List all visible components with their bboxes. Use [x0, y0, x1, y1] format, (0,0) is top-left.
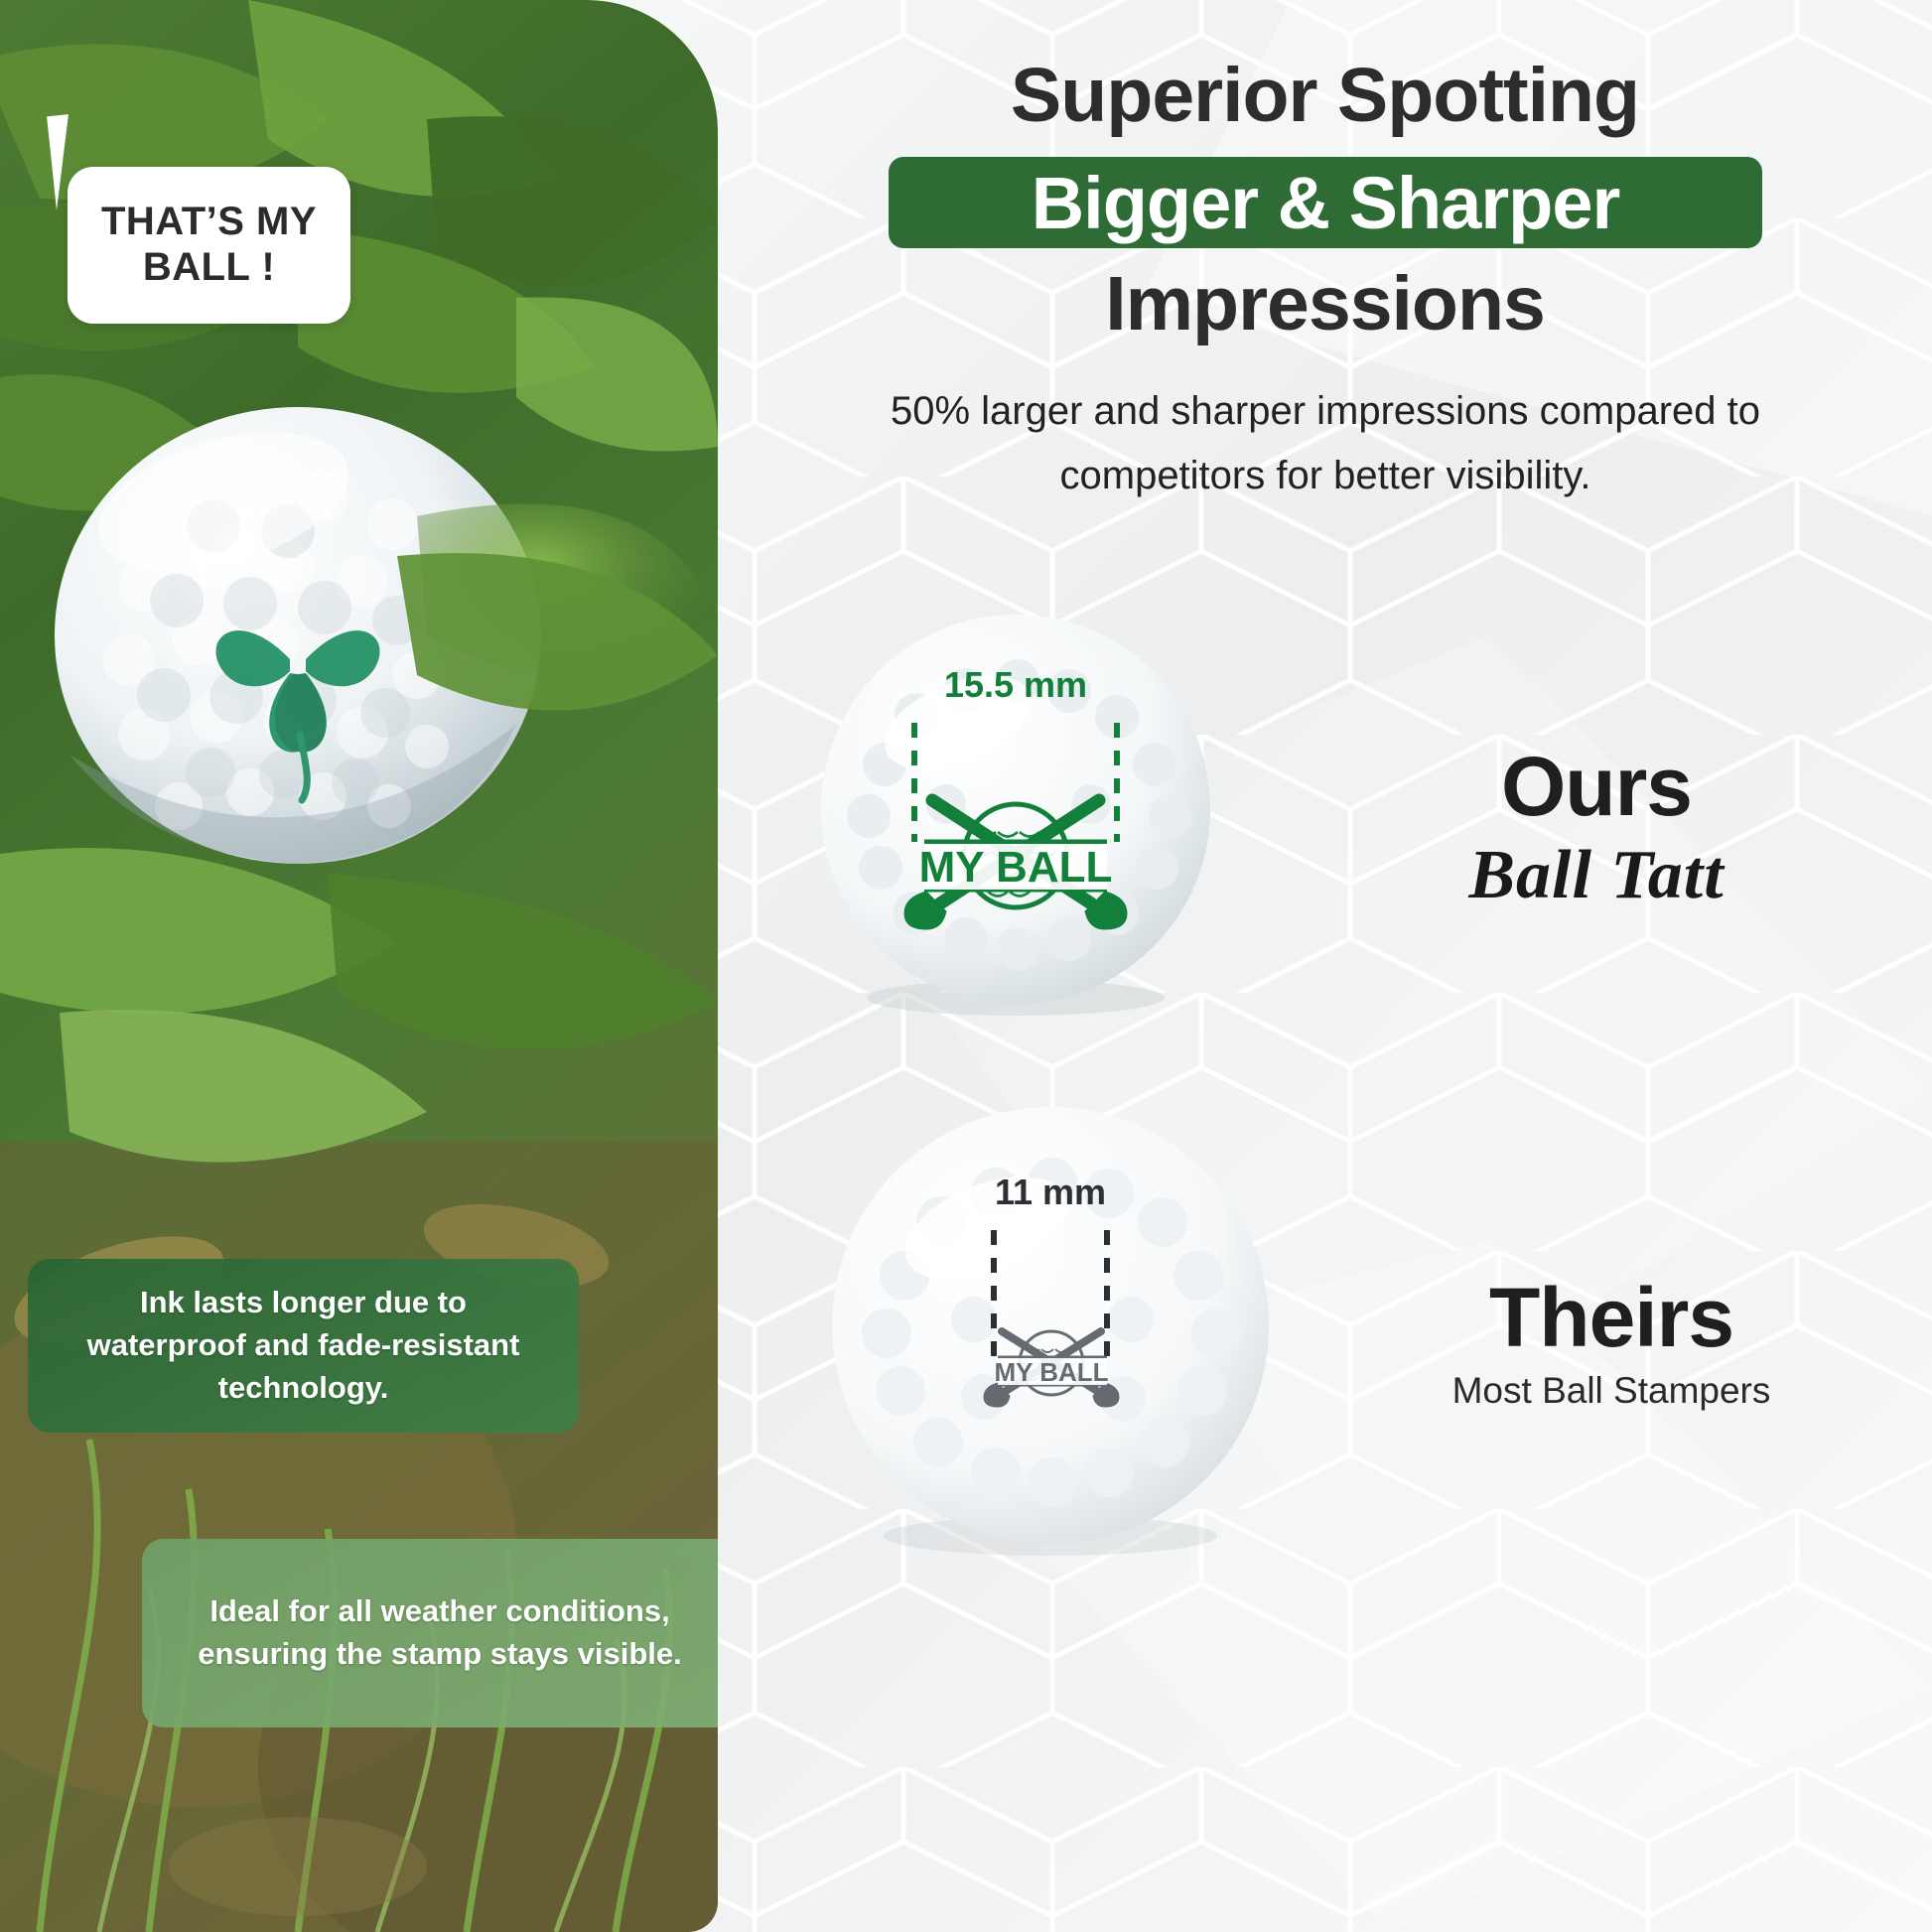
- golf-ball-ours-graphic: 15.5 mm: [807, 606, 1224, 1023]
- speech-bubble-text: THAT’S MY BALL !: [101, 200, 317, 290]
- marketing-content-panel: Superior Spotting Bigger & Sharper Impre…: [718, 0, 1932, 1932]
- golf-ball-theirs-graphic: 11 mm: [817, 1097, 1284, 1564]
- label-theirs-sub: Most Ball Stampers: [1294, 1369, 1929, 1413]
- speech-bubble-line-2: BALL !: [101, 245, 317, 291]
- comparison-row-ours: 15.5 mm: [758, 606, 1932, 1062]
- comparison-row-theirs: 11 mm: [758, 1077, 1932, 1574]
- label-theirs-main: Theirs: [1294, 1276, 1929, 1359]
- golf-ball-theirs: 11 mm: [817, 1097, 1284, 1564]
- feature-callout-text: Ideal for all weather conditions, ensuri…: [172, 1590, 708, 1676]
- headline-subtext: 50% larger and sharper impressions compa…: [837, 379, 1814, 508]
- headline-line-2: Impressions: [718, 260, 1932, 348]
- golf-ball-ours: 15.5 mm: [807, 606, 1224, 1023]
- feature-callout-waterproof: Ink lasts longer due to waterproof and f…: [28, 1259, 579, 1433]
- comparison-label-ours: Ours Ball Tatt: [1274, 745, 1919, 916]
- feature-callout-weather: Ideal for all weather conditions, ensuri…: [142, 1539, 718, 1727]
- feature-callout-text: Ink lasts longer due to waterproof and f…: [58, 1282, 549, 1409]
- svg-text:11 mm: 11 mm: [995, 1172, 1106, 1212]
- label-ours-script: Ball Tatt: [1274, 836, 1919, 916]
- headline-badge-text: Bigger & Sharper: [1032, 161, 1620, 245]
- headline-badge: Bigger & Sharper: [889, 157, 1762, 248]
- stamp-text-ours: MY BALL: [919, 843, 1113, 892]
- product-photo-panel: THAT’S MY BALL ! Ink lasts longer due to…: [0, 0, 718, 1932]
- speech-bubble-line-1: THAT’S MY: [101, 200, 317, 245]
- comparison-label-theirs: Theirs Most Ball Stampers: [1294, 1276, 1929, 1413]
- headline-line-1: Superior Spotting: [718, 52, 1932, 140]
- svg-text:15.5 mm: 15.5 mm: [944, 664, 1087, 705]
- stamp-text-theirs: MY BALL: [994, 1357, 1108, 1387]
- label-ours-main: Ours: [1274, 745, 1919, 828]
- speech-bubble: THAT’S MY BALL !: [68, 167, 350, 324]
